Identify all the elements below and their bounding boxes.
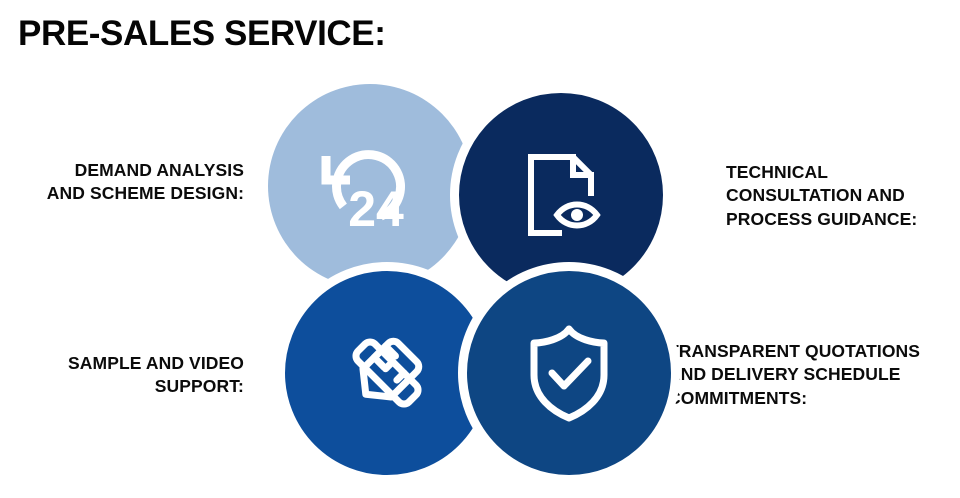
- service-circles-cluster: 24: [268, 84, 664, 488]
- document-eye-icon: [513, 147, 609, 243]
- pen-ruler-icon: [337, 323, 437, 423]
- label-sample-video-support: SAMPLE AND VIDEO SUPPORT:: [0, 352, 244, 399]
- label-transparent-quotations: TRANSPARENT QUOTATIONS AND DELIVERY SCHE…: [668, 340, 960, 410]
- icon-24-text: 24: [348, 181, 404, 237]
- label-technical-consultation: TECHNICAL CONSULTATION AND PROCESS GUIDA…: [726, 161, 956, 231]
- clock-24-rotate-icon: 24: [314, 134, 426, 238]
- page-title: PRE-SALES SERVICE:: [18, 14, 386, 54]
- circle-demand-analysis[interactable]: 24: [268, 84, 472, 288]
- circle-transparent-quotations[interactable]: [458, 262, 680, 484]
- shield-check-icon: [522, 323, 616, 423]
- label-demand-analysis: DEMAND ANALYSIS AND SCHEME DESIGN:: [0, 159, 244, 206]
